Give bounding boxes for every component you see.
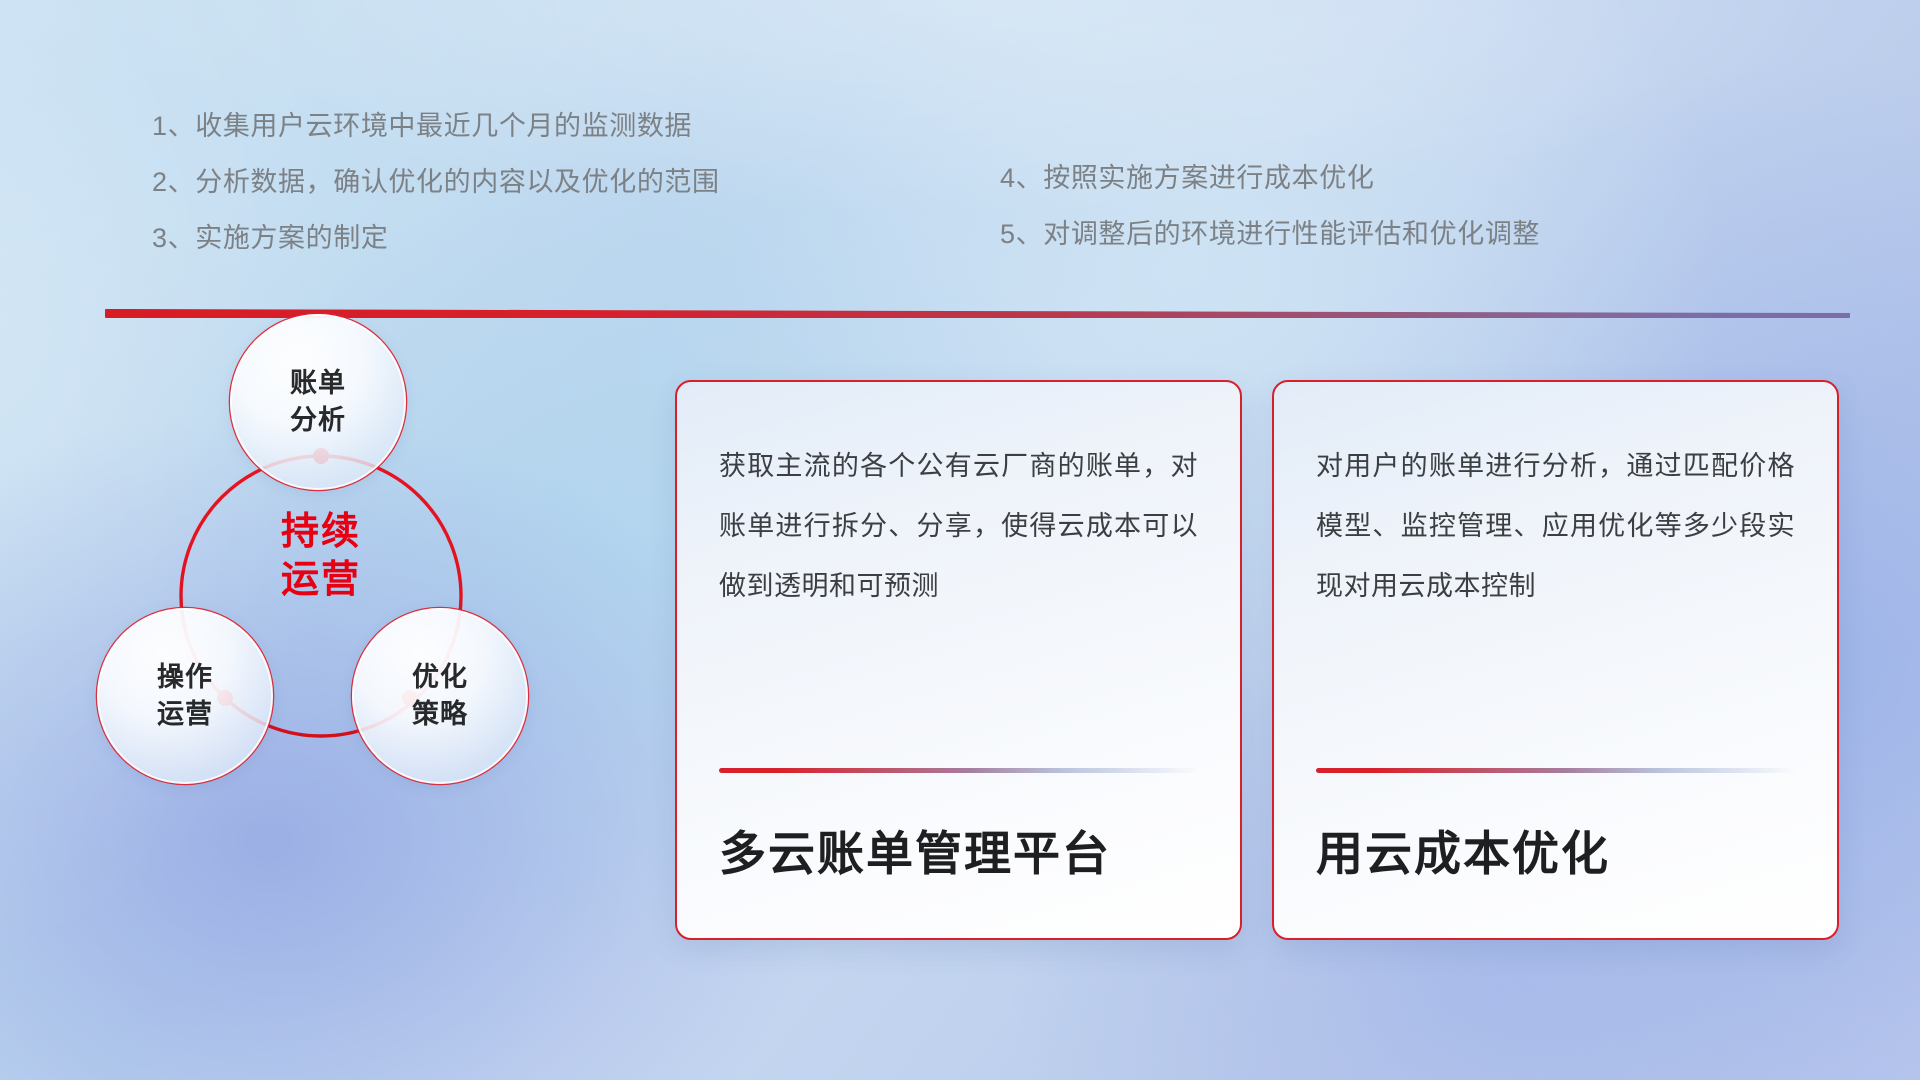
feature-card-multicloud-billing[interactable]: 获取主流的各个公有云厂商的账单，对账单进行拆分、分享，使得云成本可以做到透明和可…	[675, 380, 1242, 940]
venn-lobe-br-line1: 优化	[412, 662, 468, 692]
step-item-2: 2、分析数据，确认优化的内容以及优化的范围	[152, 154, 720, 210]
venn-center-line1: 持续	[281, 511, 361, 553]
venn-lobe-bottom-left-label: 操作 运营	[157, 659, 213, 733]
venn-lobe-top-line1: 账单	[290, 368, 346, 398]
venn-lobe-bill-analysis[interactable]: 账单 分析	[230, 314, 406, 490]
feature-card-cost-optimization[interactable]: 对用户的账单进行分析，通过匹配价格模型、监控管理、应用优化等多少段实现对用云成本…	[1272, 380, 1839, 940]
steps-right-column: 4、按照实施方案进行成本优化 5、对调整后的环境进行性能评估和优化调整	[1000, 150, 1540, 262]
step-item-1: 1、收集用户云环境中最近几个月的监测数据	[152, 98, 720, 154]
steps-left-column: 1、收集用户云环境中最近几个月的监测数据 2、分析数据，确认优化的内容以及优化的…	[152, 98, 720, 266]
feature-card-1-title: 多云账单管理平台	[719, 773, 1198, 938]
step-item-5: 5、对调整后的环境进行性能评估和优化调整	[1000, 206, 1540, 262]
venn-center-line2: 运营	[281, 559, 361, 601]
feature-card-2-title: 用云成本优化	[1316, 773, 1795, 938]
venn-lobe-bl-line2: 运营	[157, 699, 213, 729]
step-item-4: 4、按照实施方案进行成本优化	[1000, 150, 1540, 206]
step-item-3: 3、实施方案的制定	[152, 210, 720, 266]
slide-canvas: 1、收集用户云环境中最近几个月的监测数据 2、分析数据，确认优化的内容以及优化的…	[0, 0, 1920, 1080]
venn-lobe-top-line2: 分析	[290, 405, 346, 435]
venn-center-label: 持续 运营	[216, 508, 426, 604]
venn-diagram: 账单 分析 操作 运营 优化 策略 持续 运营	[100, 340, 630, 960]
venn-lobe-optimization-strategy[interactable]: 优化 策略	[352, 608, 528, 784]
venn-lobe-operations[interactable]: 操作 运营	[97, 608, 273, 784]
venn-lobe-top-label: 账单 分析	[290, 365, 346, 439]
feature-card-1-body: 获取主流的各个公有云厂商的账单，对账单进行拆分、分享，使得云成本可以做到透明和可…	[719, 436, 1198, 616]
venn-lobe-bl-line1: 操作	[157, 662, 213, 692]
section-divider-line	[105, 309, 1850, 318]
venn-lobe-bottom-right-label: 优化 策略	[412, 659, 468, 733]
venn-lobe-br-line2: 策略	[412, 699, 468, 729]
feature-card-2-body: 对用户的账单进行分析，通过匹配价格模型、监控管理、应用优化等多少段实现对用云成本…	[1316, 436, 1795, 616]
